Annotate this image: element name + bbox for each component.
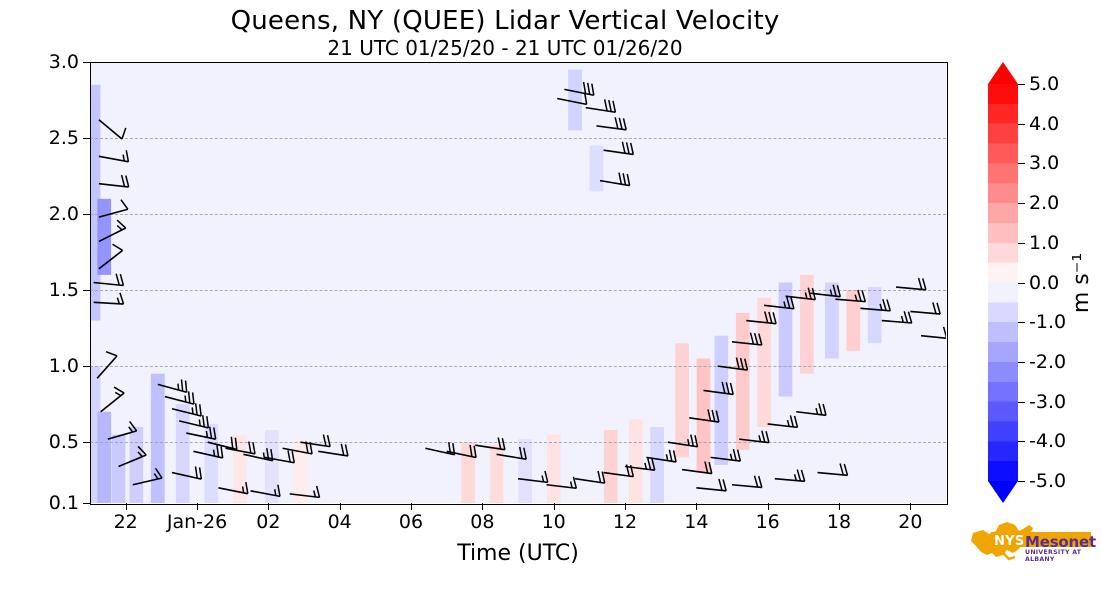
colorbar-tick-mark: [1018, 283, 1025, 284]
colorbar-tick-mark: [1018, 84, 1025, 85]
colorbar-tick-label: 2.0: [1029, 192, 1059, 214]
wind-barb: [101, 387, 124, 412]
x-tick-mark: [482, 503, 483, 510]
wind-barb: [218, 482, 247, 494]
wind-barb: [108, 421, 137, 439]
wind-barb: [775, 470, 805, 482]
x-tick-label: 04: [328, 511, 352, 533]
page-title: Queens, NY (QUEE) Lidar Vertical Velocit…: [0, 6, 1010, 36]
colorbar-tick-label: 4.0: [1029, 113, 1059, 135]
colorbar-extend-min-icon: [988, 481, 1018, 503]
plot-area[interactable]: [90, 62, 946, 503]
wind-barb: [99, 200, 128, 217]
x-tick-label: 16: [756, 511, 780, 533]
colorbar-tick-label: -3.0: [1029, 391, 1066, 413]
wind-barb: [251, 485, 280, 497]
wind-barb: [475, 438, 505, 450]
x-axis-label: Time (UTC): [457, 541, 579, 566]
x-tick-label: 18: [827, 511, 851, 533]
colorbar-tick-label: 5.0: [1029, 73, 1059, 95]
y-tick-mark: [83, 442, 90, 443]
x-tick-mark: [768, 503, 769, 510]
colorbar-tick-label: 1.0: [1029, 232, 1059, 254]
wind-barb: [586, 99, 616, 112]
wind-barb: [711, 449, 741, 461]
colorbar-tick-mark: [1018, 124, 1025, 125]
wind-barb: [703, 382, 733, 395]
wind-barb: [99, 150, 128, 162]
wind-barb: [596, 117, 626, 130]
x-tick-mark: [411, 503, 412, 510]
x-tick-mark: [839, 503, 840, 510]
colorbar-label: m s⁻¹: [1069, 253, 1094, 313]
colorbar-tick-mark: [1018, 322, 1025, 323]
x-tick-label: 20: [898, 511, 922, 533]
x-tick-mark: [197, 503, 198, 510]
x-tick-mark: [126, 503, 127, 510]
colorbar[interactable]: [988, 62, 1018, 503]
wind-barb: [732, 333, 762, 345]
wind-barb: [557, 93, 586, 105]
colorbar-tick-mark: [1018, 203, 1025, 204]
wind-barb: [165, 391, 194, 404]
colorbar-gradient: [988, 84, 1018, 481]
y-tick-label: 2.0: [9, 203, 79, 225]
colorbar-tick-label: 3.0: [1029, 152, 1059, 174]
x-tick-mark: [696, 503, 697, 510]
logo-university-text: UNIVERSITY AT ALBANY: [1025, 549, 1095, 563]
wind-barb: [739, 431, 769, 443]
x-tick-label: Jan-26: [167, 511, 227, 533]
wind-barb: [425, 442, 454, 455]
wind-barb: [447, 445, 476, 457]
wind-barb: [193, 445, 222, 458]
wind-barb: [575, 471, 605, 483]
wind-barb: [158, 379, 187, 392]
wind-barb: [547, 477, 577, 488]
wind-barb: [768, 415, 798, 427]
wind-barb: [99, 220, 126, 241]
wind-barb: [133, 468, 162, 485]
wind-barb: [99, 120, 126, 139]
colorbar-tick-label: -5.0: [1029, 470, 1066, 492]
y-tick-mark: [83, 214, 90, 215]
colorbar-tick-mark: [1018, 163, 1025, 164]
wind-barb: [119, 446, 147, 466]
x-tick-mark: [554, 503, 555, 510]
y-tick-label: 0.1: [9, 492, 79, 514]
wind-barb: [625, 458, 655, 470]
wind-barb: [896, 278, 926, 290]
wind-barb: [696, 479, 726, 491]
wind-barb: [172, 403, 201, 416]
wind-barb: [600, 173, 630, 186]
x-tick-mark: [268, 503, 269, 510]
x-tick-label: 06: [399, 511, 423, 533]
colorbar-tick-mark: [1018, 362, 1025, 363]
wind-barb: [99, 175, 129, 187]
nys-mesonet-logo: NYS Mesonet UNIVERSITY AT ALBANY: [963, 519, 1095, 565]
wind-barb: [179, 415, 208, 428]
x-tick-mark: [910, 503, 911, 510]
x-tick-mark: [340, 503, 341, 510]
y-tick-mark: [83, 62, 90, 63]
y-tick-mark: [83, 503, 90, 504]
wind-barb: [732, 476, 762, 488]
x-tick-label: 02: [256, 511, 280, 533]
x-tick-label: 14: [684, 511, 708, 533]
wind-barb: [518, 471, 548, 482]
y-tick-label: 1.0: [9, 355, 79, 377]
wind-barb: [97, 352, 117, 379]
colorbar-tick-label: 0.0: [1029, 272, 1059, 294]
colorbar-tick-mark: [1018, 441, 1025, 442]
wind-barb: [564, 82, 593, 95]
wind-barb: [172, 467, 201, 480]
wind-barb: [796, 403, 826, 415]
wind-barb: [300, 434, 330, 446]
x-tick-label: 12: [613, 511, 637, 533]
wind-barb: [646, 450, 676, 462]
wind-barb: [604, 142, 634, 155]
y-tick-label: 2.5: [9, 127, 79, 149]
x-tick-label: 10: [542, 511, 566, 533]
wind-barb: [882, 311, 912, 323]
wind-barb: [94, 274, 124, 286]
wind-barb: [818, 464, 848, 476]
colorbar-tick-mark: [1018, 481, 1025, 482]
logo-nys-text: NYS: [994, 534, 1025, 549]
wind-barb: [186, 427, 215, 439]
wind-barb: [718, 358, 748, 371]
y-tick-label: 3.0: [9, 51, 79, 73]
wind-barb: [689, 409, 719, 422]
wind-barb: [94, 293, 124, 304]
colorbar-tick-label: -1.0: [1029, 311, 1066, 333]
x-tick-mark: [625, 503, 626, 510]
x-tick-label: 08: [470, 511, 494, 533]
y-tick-mark: [83, 138, 90, 139]
wind-barb: [265, 450, 295, 462]
wind-barb: [764, 297, 794, 309]
wind-barb: [668, 435, 698, 447]
wind-barbs: [90, 62, 946, 503]
colorbar-extend-max-icon: [988, 62, 1018, 84]
wind-barb: [290, 486, 320, 497]
colorbar-tick-label: -2.0: [1029, 351, 1066, 373]
wind-barb: [682, 462, 712, 474]
wind-barb: [921, 327, 946, 339]
x-tick-label: 22: [114, 511, 138, 533]
page-subtitle: 21 UTC 01/25/20 - 21 UTC 01/26/20: [0, 36, 1010, 60]
colorbar-tick-label: -4.0: [1029, 430, 1066, 452]
y-tick-mark: [83, 366, 90, 367]
wind-barb: [746, 311, 776, 323]
colorbar-tick-mark: [1018, 243, 1025, 244]
y-tick-mark: [83, 290, 90, 291]
y-tick-label: 0.5: [9, 431, 79, 453]
wind-barb: [99, 244, 123, 269]
wind-barb: [910, 302, 940, 314]
colorbar-tick-mark: [1018, 402, 1025, 403]
y-tick-label: 1.5: [9, 279, 79, 301]
wind-barb: [810, 285, 840, 297]
